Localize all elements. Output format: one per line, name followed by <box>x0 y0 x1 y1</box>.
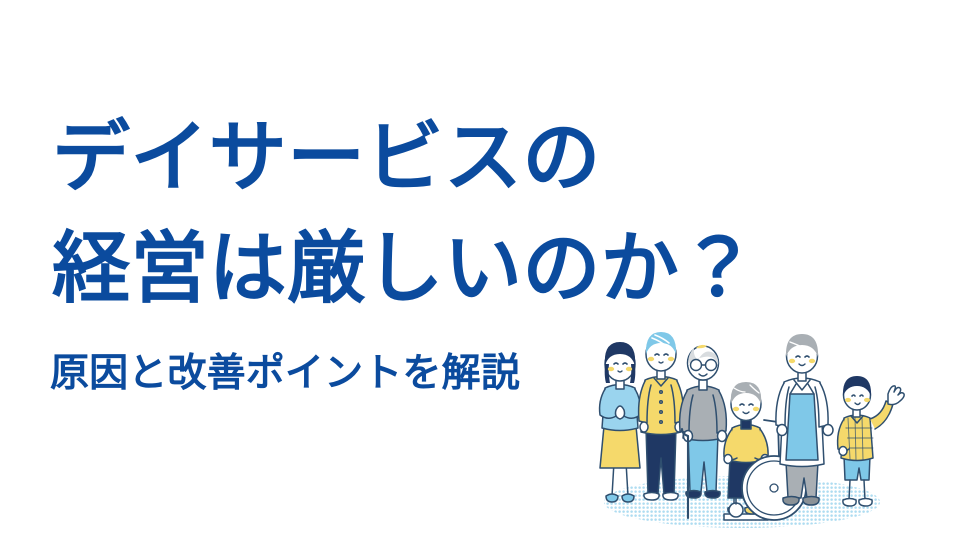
figure-adult-man <box>639 332 684 500</box>
title-line-1: デイサービスの <box>52 103 852 214</box>
page-subtitle: 原因と改善ポイントを解説 <box>50 350 520 399</box>
page-title: デイサービスの 経営は厳しいのか？ <box>52 103 852 325</box>
title-line-2: 経営は厳しいのか？ <box>52 214 852 325</box>
figure-young-woman <box>600 342 641 502</box>
thumbnail-canvas: デイサービスの 経営は厳しいのか？ 原因と改善ポイントを解説 <box>0 0 960 540</box>
care-group-illustration <box>578 322 906 540</box>
